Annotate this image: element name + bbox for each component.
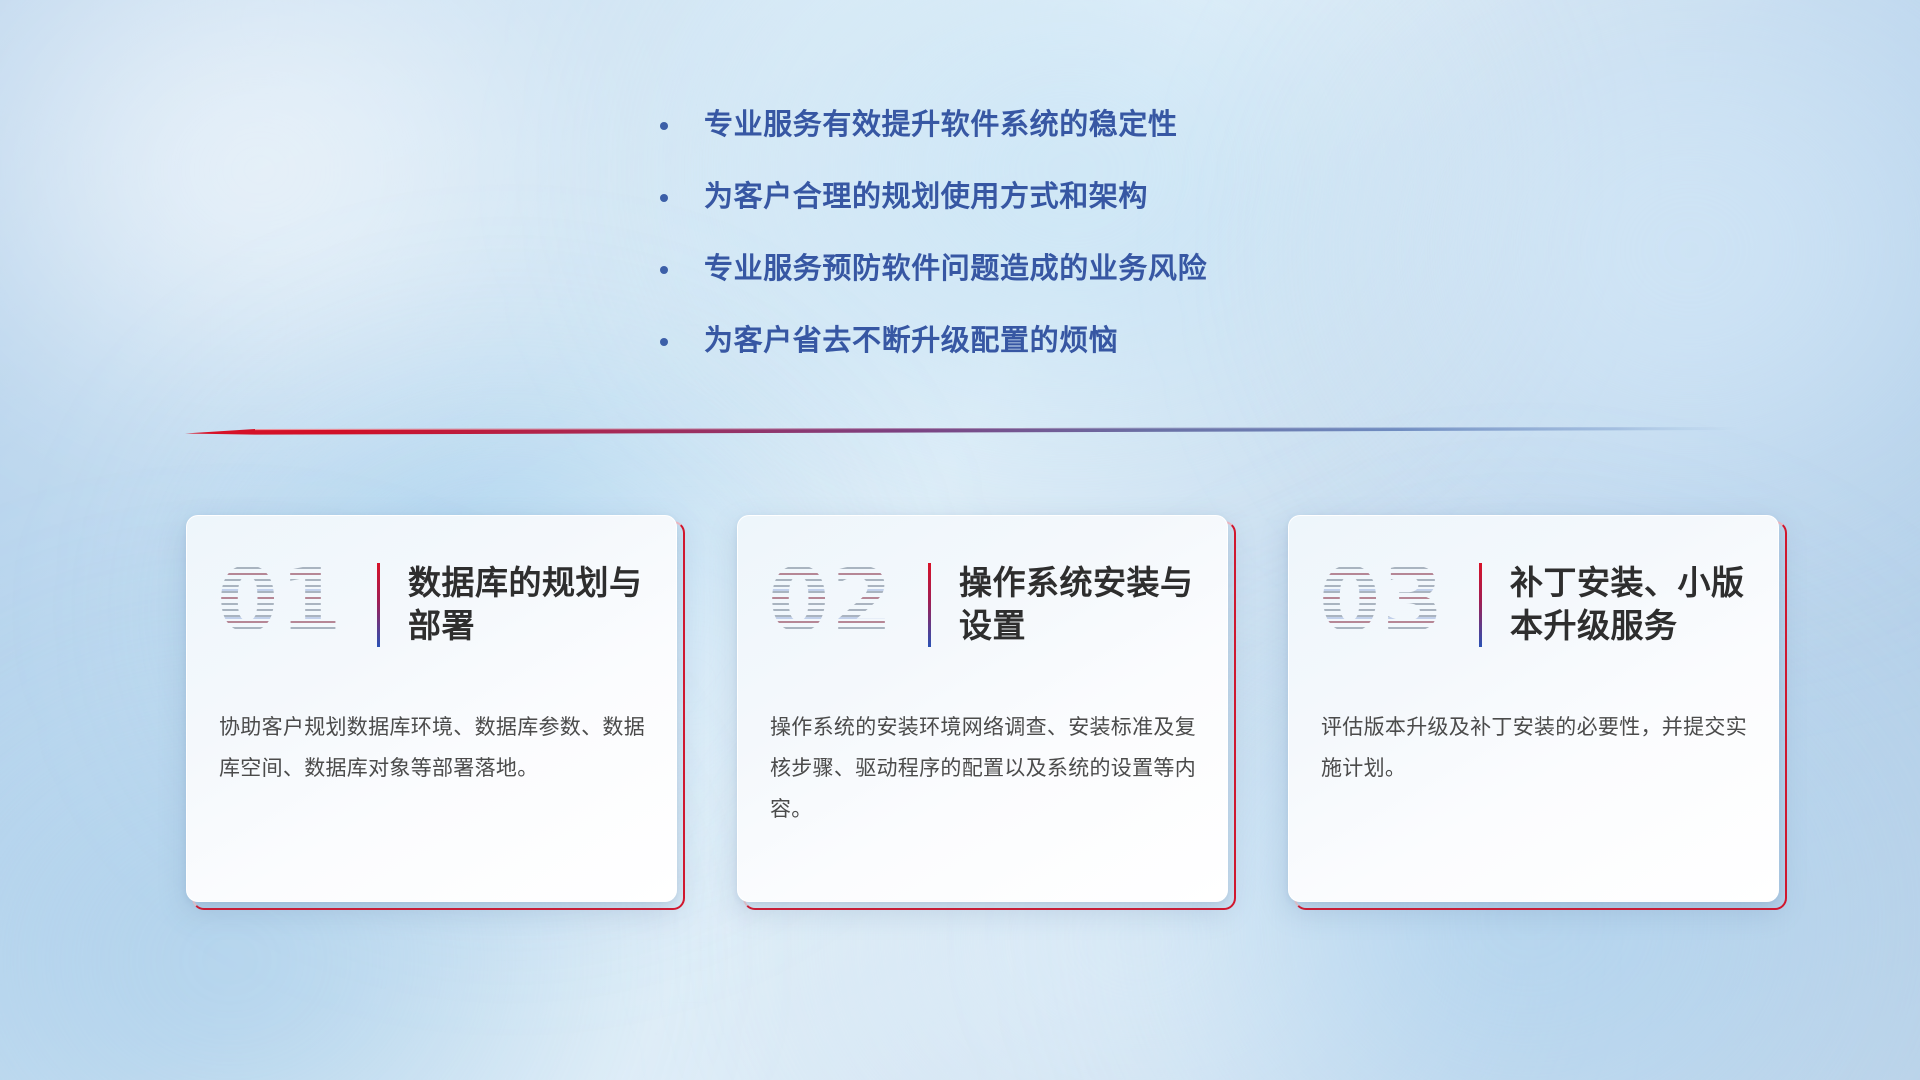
card-header: 03 03 补丁安装、小版本升级服务 [1289, 546, 1778, 664]
bullet-dot-icon [660, 338, 668, 346]
service-card-02[interactable]: 02 02 操作系统安装与设置 操作系统的安装环境网络调查、安装标准及复核步骤、… [737, 515, 1226, 900]
card-number-tint: 01 [217, 549, 377, 652]
card-divider-rule [1479, 563, 1482, 647]
list-item: 为客户省去不断升级配置的烦恼 [660, 321, 1480, 361]
bullet-dot-icon [660, 194, 668, 202]
card-description: 协助客户规划数据库环境、数据库参数、数据库空间、数据库对象等部署落地。 [219, 708, 646, 790]
card-number-watermark: 01 01 [217, 553, 377, 657]
benefit-text: 专业服务预防软件问题造成的业务风险 [704, 249, 1207, 289]
service-card-03[interactable]: 03 03 补丁安装、小版本升级服务 评估版本升级及补丁安装的必要性，并提交实施… [1288, 515, 1777, 900]
card-description: 评估版本升级及补丁安装的必要性，并提交实施计划。 [1321, 708, 1748, 790]
card-header: 01 01 数据库的规划与部署 [187, 546, 676, 664]
card-divider-rule [928, 563, 931, 647]
card-title: 补丁安装、小版本升级服务 [1510, 562, 1746, 648]
bullet-dot-icon [660, 122, 668, 130]
card-description: 操作系统的安装环境网络调查、安装标准及复核步骤、驱动程序的配置以及系统的设置等内… [770, 708, 1197, 831]
service-card-01[interactable]: 01 01 数据库的规划与部署 协助客户规划数据库环境、数据库参数、数据库空间、… [186, 515, 675, 900]
benefit-text: 为客户合理的规划使用方式和架构 [704, 177, 1148, 217]
bullet-dot-icon [660, 266, 668, 274]
benefit-text: 为客户省去不断升级配置的烦恼 [704, 321, 1118, 361]
card-header: 02 02 操作系统安装与设置 [738, 546, 1227, 664]
card-surface: 02 02 操作系统安装与设置 操作系统的安装环境网络调查、安装标准及复核步骤、… [737, 515, 1228, 902]
card-number-watermark: 02 02 [768, 553, 928, 657]
card-number-watermark: 03 03 [1319, 553, 1479, 657]
card-number-tint: 03 [1319, 549, 1479, 652]
card-divider-rule [377, 563, 380, 647]
card-surface: 01 01 数据库的规划与部署 协助客户规划数据库环境、数据库参数、数据库空间、… [186, 515, 677, 902]
service-cards: 01 01 数据库的规划与部署 协助客户规划数据库环境、数据库参数、数据库空间、… [186, 515, 1777, 900]
benefit-text: 专业服务有效提升软件系统的稳定性 [704, 105, 1178, 145]
benefits-list: 专业服务有效提升软件系统的稳定性 为客户合理的规划使用方式和架构 专业服务预防软… [660, 105, 1480, 393]
card-surface: 03 03 补丁安装、小版本升级服务 评估版本升级及补丁安装的必要性，并提交实施… [1288, 515, 1779, 902]
list-item: 专业服务预防软件问题造成的业务风险 [660, 249, 1480, 289]
card-title: 操作系统安装与设置 [959, 562, 1195, 648]
list-item: 专业服务有效提升软件系统的稳定性 [660, 105, 1480, 145]
section-divider [185, 422, 1740, 442]
list-item: 为客户合理的规划使用方式和架构 [660, 177, 1480, 217]
card-number-tint: 02 [768, 549, 928, 652]
card-title: 数据库的规划与部署 [408, 562, 644, 648]
